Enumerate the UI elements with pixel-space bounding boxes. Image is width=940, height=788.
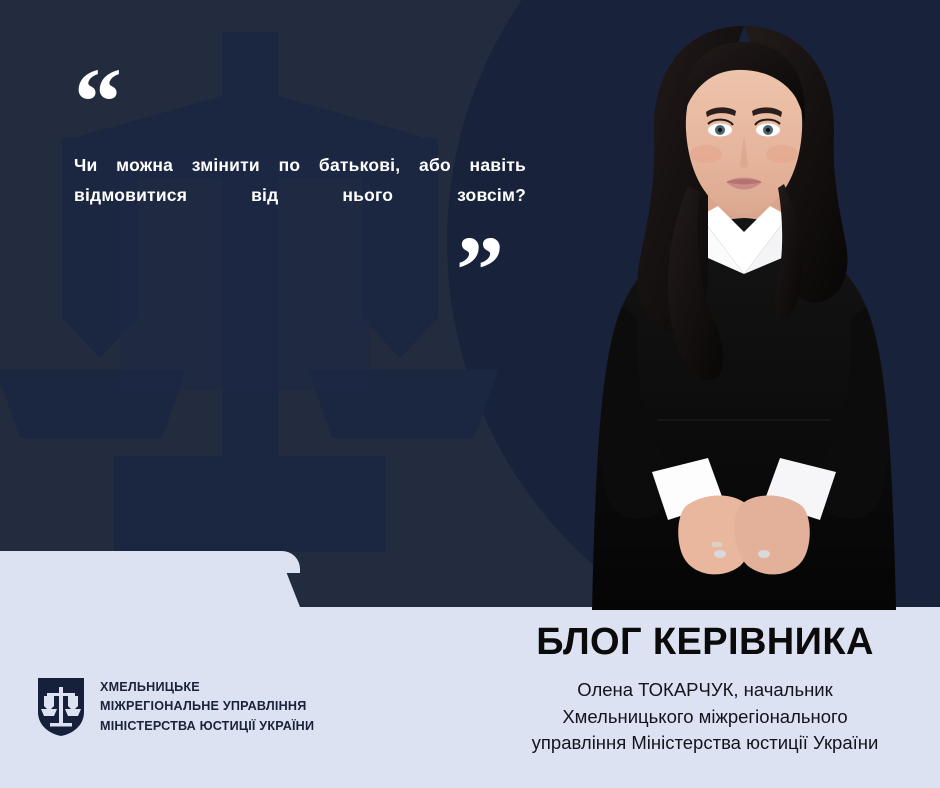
portrait-photo (548, 6, 940, 610)
blog-subtitle-line-2: Хмельницького міжрегіонального (470, 704, 940, 731)
blog-subtitle-line-3: управління Міністерства юстиції України (470, 730, 940, 757)
light-panel-rounded-step (0, 551, 300, 573)
quote-block: “ Чи можна змінити по батькові, або наві… (74, 72, 526, 240)
poster-root: “ Чи можна змінити по батькові, або наві… (0, 0, 940, 788)
logo-line-2: МІЖРЕГІОНАЛЬНЕ УПРАВЛІННЯ (100, 697, 314, 716)
blog-title: БЛОГ КЕРІВНИКА (470, 622, 940, 664)
blog-subtitle-line-1: Олена ТОКАРЧУК, начальник (470, 677, 940, 704)
organization-logo: ХМЕЛЬНИЦЬКЕ МІЖРЕГІОНАЛЬНЕ УПРАВЛІННЯ МІ… (36, 676, 314, 738)
justice-shield-icon (36, 676, 86, 738)
logo-line-1: ХМЕЛЬНИЦЬКЕ (100, 678, 314, 697)
logo-line-3: МІНІСТЕРСТВА ЮСТИЦІЇ УКРАЇНИ (100, 717, 314, 736)
quote-open-mark-icon: “ (74, 72, 526, 130)
quote-close-mark-icon: ” (456, 240, 502, 300)
blog-title-block: БЛОГ КЕРІВНИКА Олена ТОКАРЧУК, начальник… (470, 622, 940, 757)
organization-name: ХМЕЛЬНИЦЬКЕ МІЖРЕГІОНАЛЬНЕ УПРАВЛІННЯ МІ… (100, 678, 314, 735)
blog-subtitle: Олена ТОКАРЧУК, начальник Хмельницького … (470, 677, 940, 757)
